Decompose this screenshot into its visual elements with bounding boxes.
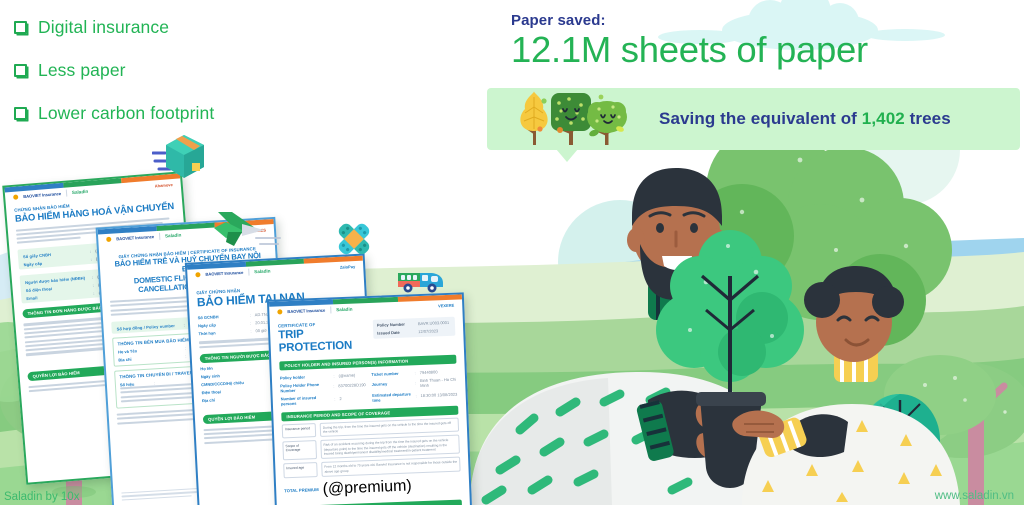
airplane-icon [212, 208, 282, 255]
doc-field-key: Estimated departure time [372, 391, 412, 403]
doc-field-key: Policy holder [280, 373, 330, 380]
doc-field-value: Binh Thuan - Ho Chi Minh [420, 376, 457, 387]
bus-icon [396, 265, 446, 300]
document-card-trip-protection[interactable]: BAOVIET Insurance Saladin VEXERE CERTIFI… [267, 292, 474, 505]
callout-text-after: trees [905, 109, 951, 128]
doc-field-value: 12/07/2023 [418, 328, 451, 334]
doc-brand-label: BAOVIET Insurance [205, 270, 243, 277]
doc-field-key: Policy Number [377, 321, 414, 327]
coverage-row-key: Scope of Coverage [282, 440, 317, 460]
list-item: Less paper [10, 53, 310, 88]
brand-divider [330, 306, 331, 313]
brand-divider [159, 233, 160, 240]
doc-field-key: Ticket number [371, 370, 410, 377]
doc-field-key: Thời hạn [198, 329, 246, 337]
callout-pointer [556, 149, 578, 162]
trees-saved-callout: Saving the equivalent of 1,402 trees [487, 88, 1020, 150]
watermark-right: www.saladin.vn [935, 490, 1014, 502]
checkbox-square-icon [14, 64, 27, 77]
coverage-row-key: Insured age [283, 462, 318, 478]
list-item-label: Lower carbon footprint [38, 103, 214, 124]
doc-field-key: Ngày cấp [198, 321, 246, 329]
baoviet-logo-icon [277, 309, 282, 314]
doc-field-key: Policy Holder Phone Number [280, 381, 329, 393]
brand-divider [66, 190, 68, 197]
baoviet-logo-icon [195, 272, 200, 277]
doc-field-value: 18:30:00 13/08/2023 [421, 392, 458, 398]
coverage-row-value: Risk of an accident occurring during the… [320, 435, 460, 459]
doc-field-key: Email [26, 292, 89, 302]
doc-field-value: 83700228D190 [338, 382, 366, 388]
doc-partner-label: Saladin [165, 233, 182, 239]
doc-field-value: 2 [339, 395, 366, 401]
callout-text-before: Saving the equivalent of [659, 109, 862, 128]
headline-eyebrow: Paper saved: [511, 12, 868, 29]
brand-divider [248, 269, 249, 276]
doc-brand-right-label: ZaloPay [340, 264, 356, 270]
doc-field-key: Issued Date [377, 329, 414, 335]
checkbox-square-icon [14, 21, 27, 34]
doc-section-header-4: INSURANCE BENEFITS [285, 499, 462, 505]
doc-title: TRIP PROTECTION [278, 326, 374, 355]
slide-canvas: BAOVIET Insurance Saladin Ahamove CHỨNG … [0, 0, 1024, 505]
coverage-row-value: During the trip, from the time the insur… [320, 417, 459, 437]
doc-field-value: (@name) [338, 372, 365, 378]
list-item: Lower carbon footprint [10, 96, 310, 131]
doc-brand-label: BAOVIET Insurance [287, 308, 325, 314]
doc-field-key: Ngày cấp [24, 258, 87, 268]
trees-saved-text: Saving the equivalent of 1,402 trees [659, 109, 951, 129]
doc-brand-right-label: VEXERE [438, 303, 454, 309]
headline-block: Paper saved: 12.1M sheets of paper [511, 12, 868, 71]
checkbox-square-icon [14, 107, 27, 120]
page-title: 12.1M sheets of paper [511, 30, 868, 71]
doc-brand-label: BAOVIET Insurance [116, 234, 154, 241]
three-trees-icon [513, 89, 633, 149]
doc-field-value: BAVR.U003.0001 [418, 320, 451, 326]
benefit-list: Digital insurance Less paper Lower carbo… [10, 10, 310, 139]
list-item-label: Less paper [38, 60, 126, 81]
bandage-icon [334, 219, 374, 264]
doc-section-header-3: TOTAL PREMIUM [284, 487, 319, 493]
doc-brand-label: BAOVIET Insurance [23, 191, 61, 199]
doc-partner-label: Saladin [336, 307, 353, 313]
shipping-box-icon [152, 133, 206, 186]
coverage-row-value: From 12 months old to 70 years old. Baov… [321, 457, 460, 477]
list-item: Digital insurance [10, 10, 310, 45]
doc-field-key: Number of insured persons [281, 394, 331, 406]
trees-count: 1,402 [862, 109, 905, 128]
doc-field-key: Số GCNBH [198, 313, 246, 321]
list-item-label: Digital insurance [38, 17, 169, 38]
baoviet-logo-icon [13, 194, 18, 199]
doc-field-value: 79440800 [420, 368, 457, 374]
watermark-left: Saladin by 10x [4, 491, 79, 503]
baoviet-logo-icon [106, 237, 111, 242]
doc-field-key: Số hợp đồng / Policy number [116, 323, 179, 332]
doc-field-key: Journey [372, 381, 411, 388]
doc-partner-label: Saladin [254, 268, 271, 274]
coverage-row-key: Insurance period [282, 423, 317, 439]
doc-partner-label: Saladin [72, 189, 89, 195]
